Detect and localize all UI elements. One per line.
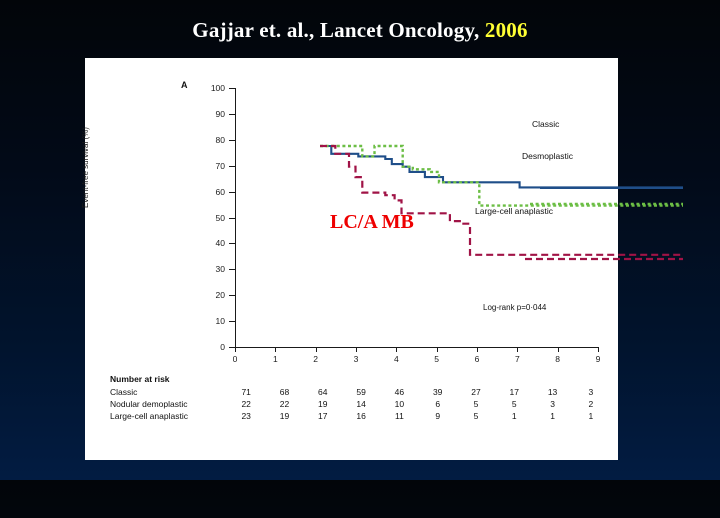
risk-cell: 1: [533, 410, 571, 422]
legend-label-classic: Classic: [532, 119, 559, 129]
figure-panel: A Event-free survival (%) 01020304050607…: [85, 58, 618, 460]
number-at-risk-table: Number at risk Classic716864594639271713…: [110, 374, 610, 422]
risk-cell: 10: [380, 398, 418, 410]
risk-cell: 22: [227, 398, 265, 410]
slide-title: Gajjar et. al., Lancet Oncology, 2006: [0, 18, 720, 43]
panel-letter: A: [181, 80, 188, 90]
risk-cell: 5: [457, 410, 495, 422]
title-year: 2006: [485, 18, 528, 42]
risk-table-row: Classic7168645946392717133: [110, 386, 610, 398]
risk-cell: 22: [265, 398, 303, 410]
risk-cell: 5: [457, 398, 495, 410]
legend-label-large-cell-anaplastic: Large-cell anaplastic: [475, 206, 553, 216]
risk-row-label: Classic: [110, 386, 227, 398]
risk-cell: 13: [533, 386, 571, 398]
risk-cell: 2: [572, 398, 610, 410]
slide-canvas: Gajjar et. al., Lancet Oncology, 2006 A …: [0, 0, 720, 480]
curve-desmoplastic: [320, 146, 683, 206]
risk-cell: 39: [419, 386, 457, 398]
risk-table-row: Nodular demoplastic222219141065532: [110, 398, 610, 410]
risk-cell: 3: [572, 386, 610, 398]
y-tick: [229, 88, 235, 89]
risk-cell: 19: [265, 410, 303, 422]
risk-row-label: Nodular demoplastic: [110, 398, 227, 410]
survival-curves: [170, 116, 703, 518]
risk-table: Classic7168645946392717133Nodular demopl…: [110, 386, 610, 422]
legend-label-desmoplastic: Desmoplastic: [522, 151, 573, 161]
title-citation: Gajjar et. al., Lancet Oncology,: [192, 18, 485, 42]
curve-large-cell-anaplastic: [320, 146, 683, 255]
risk-cell: 5: [495, 398, 533, 410]
risk-row-label: Large-cell anaplastic: [110, 410, 227, 422]
risk-cell: 68: [265, 386, 303, 398]
risk-cell: 71: [227, 386, 265, 398]
y-tick-label: 100: [199, 83, 225, 93]
risk-cell: 17: [495, 386, 533, 398]
risk-cell: 1: [495, 410, 533, 422]
risk-cell: 1: [572, 410, 610, 422]
risk-cell: 64: [304, 386, 342, 398]
risk-cell: 23: [227, 410, 265, 422]
risk-cell: 19: [304, 398, 342, 410]
logrank-annotation: Log-rank p=0·044: [483, 303, 546, 312]
risk-cell: 16: [342, 410, 380, 422]
risk-cell: 46: [380, 386, 418, 398]
risk-table-header: Number at risk: [110, 374, 610, 384]
risk-cell: 27: [457, 386, 495, 398]
risk-cell: 3: [533, 398, 571, 410]
y-axis-label: Event-free survival (%): [81, 127, 90, 208]
risk-cell: 9: [419, 410, 457, 422]
lca-mb-annotation: LC/A MB: [330, 211, 414, 234]
risk-cell: 11: [380, 410, 418, 422]
risk-cell: 59: [342, 386, 380, 398]
risk-table-row: Large-cell anaplastic231917161195111: [110, 410, 610, 422]
risk-cell: 14: [342, 398, 380, 410]
risk-cell: 6: [419, 398, 457, 410]
risk-cell: 17: [304, 410, 342, 422]
y-tick: [229, 114, 235, 115]
